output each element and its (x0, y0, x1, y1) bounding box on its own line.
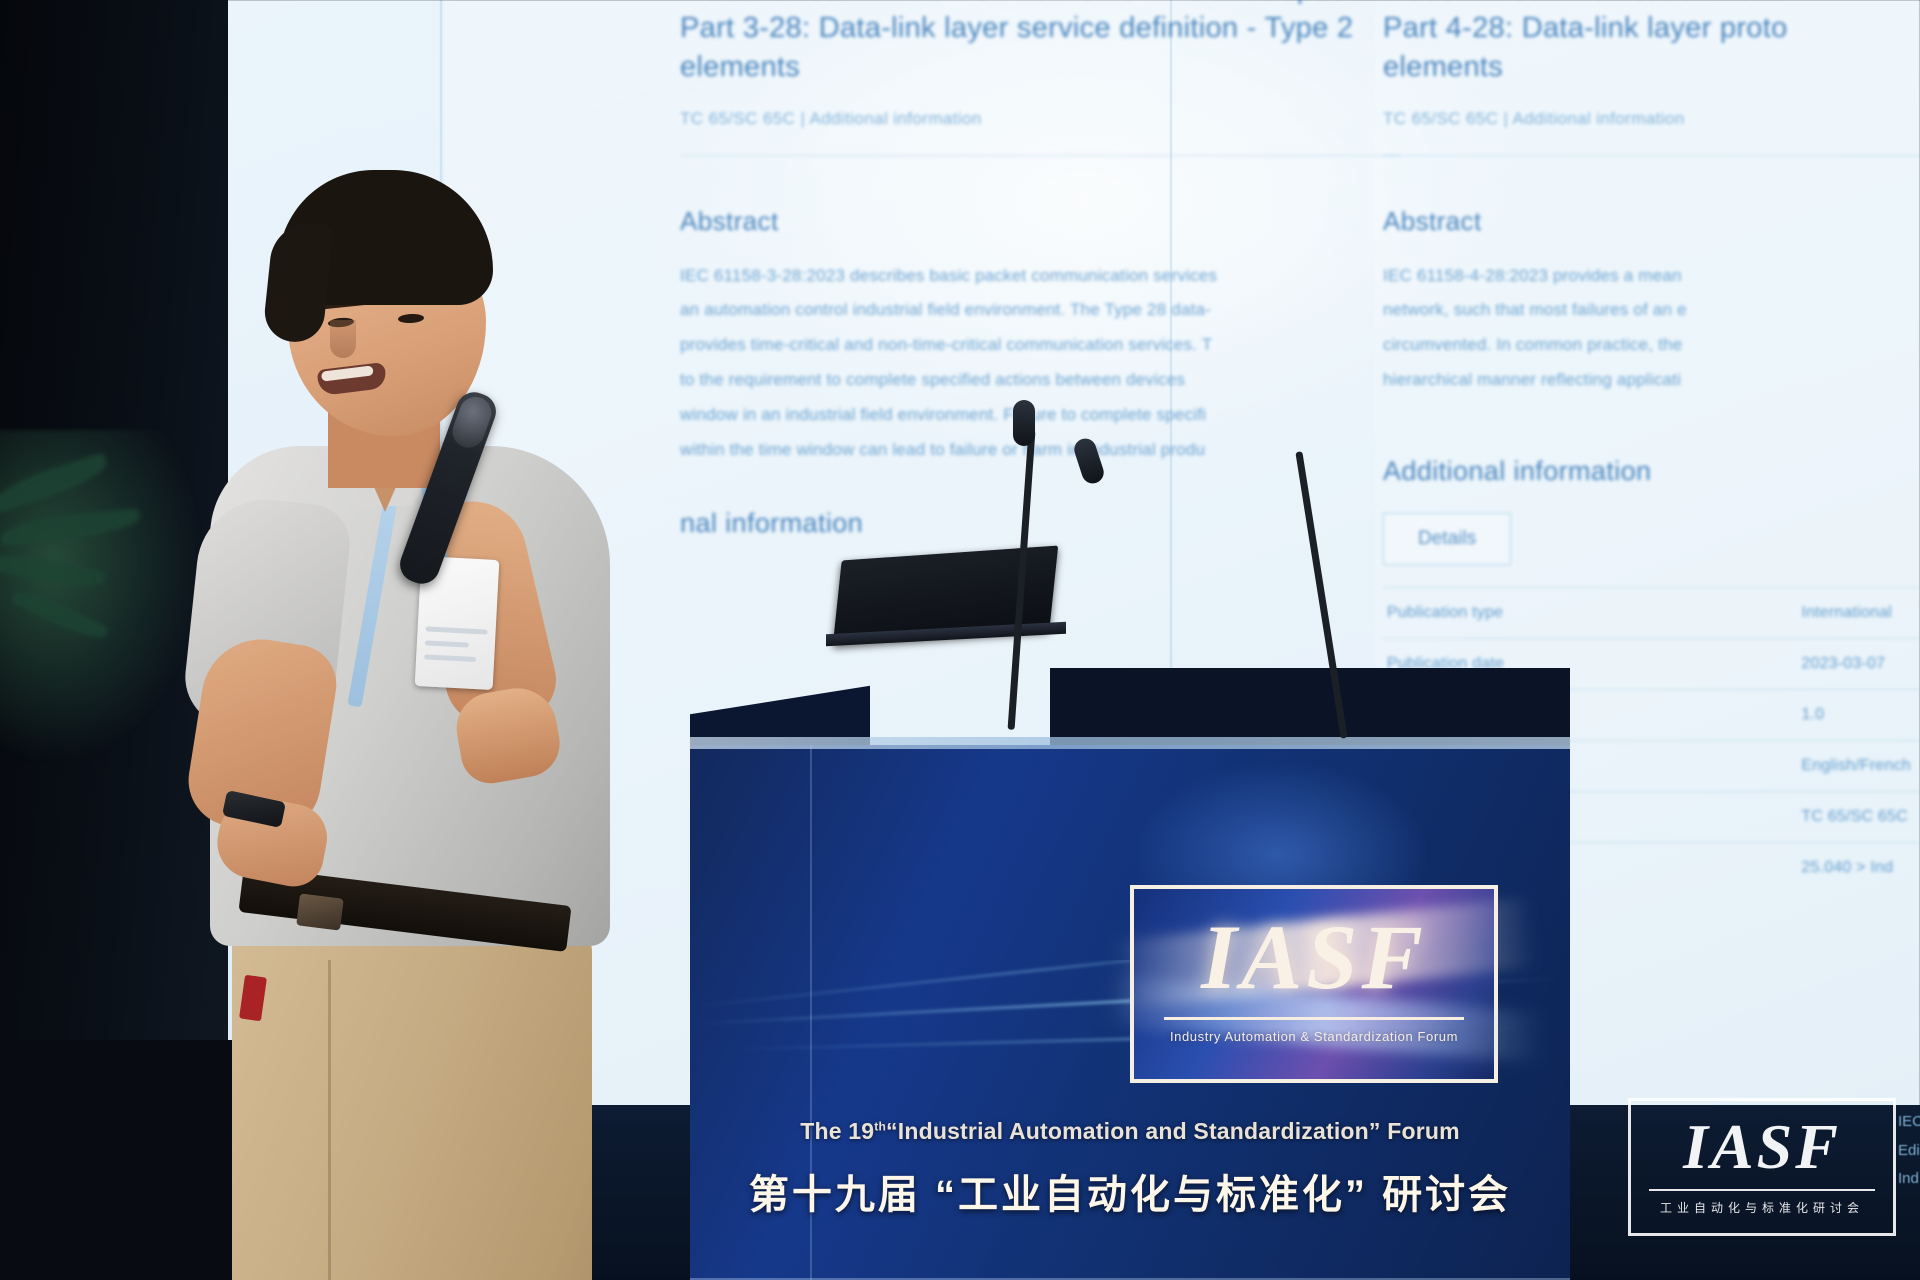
slide-left-title-line3: elements (680, 48, 1400, 87)
slide-left-abstract-l4: to the requirement to complete specified… (680, 363, 1400, 398)
slide-left-abstract-l1: IEC 61158-3-28:2023 describes basic pack… (680, 259, 1400, 294)
watermark-rule (1649, 1189, 1875, 1191)
slide-left-abstract-l3: provides time-critical and non-time-crit… (680, 328, 1400, 363)
slide-left-divider (680, 155, 1400, 156)
slide-left-meta: TC 65/SC 65C | Additional information (680, 109, 1400, 129)
slide-right-title-line2: Part 4-28: Data-link layer proto (1383, 9, 1920, 48)
slide-right-divider (1383, 155, 1920, 156)
slide-right-abstract-l4: hierarchical manner reflecting applicati (1383, 363, 1920, 398)
slide-left-additional-heading: nal information (680, 508, 1400, 539)
slide-left-abstract-l6: within the time window can lead to failu… (680, 433, 1400, 468)
belt-buckle (296, 893, 344, 930)
table-row: Publication type International (1383, 587, 1920, 638)
detail-value: International (1797, 587, 1920, 638)
iasf-logo-plate: IASF Industry Automation & Standardizati… (1130, 885, 1498, 1083)
slide-right-abstract-l2: network, such that most failures of an e (1383, 293, 1920, 328)
slide-left-abstract-l5: window in an industrial field environmen… (680, 398, 1400, 433)
slide-left-title-line1: Industrial communication networks - Fiel… (680, 0, 1400, 9)
detail-value: 25.040 > Ind (1797, 842, 1920, 893)
iasf-watermark: IASF 工业自动化与标准化研讨会 (1628, 1098, 1896, 1236)
forum-tagline-chinese: 第十九届 “工业自动化与标准化” 研讨会 (690, 1162, 1570, 1220)
side-line-2: Edi (1898, 1137, 1920, 1166)
slide-left-abstract-heading: Abstract (680, 206, 1400, 237)
tab-details[interactable]: Details (1383, 513, 1511, 565)
speaker-nose (330, 320, 356, 358)
slide-right-abstract-l3: circumvented. In common practice, the (1383, 328, 1920, 363)
iasf-logo-text: IASF (1134, 911, 1494, 1003)
podium-top-edge (690, 737, 1570, 749)
slide-left-title-line2: Part 3-28: Data-link layer service defin… (680, 9, 1400, 48)
tagline-rest: “Industrial Automation and Standardizati… (886, 1118, 1460, 1144)
side-line-3: Ind (1898, 1165, 1920, 1194)
slide-left-content: Industrial communication networks - Fiel… (680, 0, 1400, 539)
potted-plant (0, 430, 200, 760)
slide-right-abstract-l1: IEC 61158-4-28:2023 provides a mean (1383, 259, 1920, 294)
conference-photo-scene: Industrial communication networks - Fiel… (0, 0, 1920, 1280)
speaker-figure (180, 170, 600, 1280)
tagline-prefix: The 19 (800, 1118, 874, 1144)
detail-key: Publication type (1383, 587, 1797, 638)
watermark-side-text: IEC Edi Ind (1898, 1108, 1920, 1194)
slide-right-meta: TC 65/SC 65C | Additional information (1383, 109, 1920, 129)
slide-right-title-line3: elements (1383, 48, 1920, 87)
detail-value: 2023-03-07 (1797, 638, 1920, 689)
detail-value: TC 65/SC 65C (1797, 791, 1920, 842)
watermark-logo-text: IASF (1631, 1115, 1893, 1179)
speaker-trousers (232, 918, 592, 1280)
tagline-ordinal: th (874, 1119, 886, 1133)
iasf-logo-subtitle: Industry Automation & Standardization Fo… (1134, 1029, 1494, 1044)
watermark-subtitle: 工业自动化与标准化研讨会 (1631, 1199, 1893, 1216)
detail-value: English/French (1797, 740, 1920, 791)
slide-left-abstract-l2: an automation control industrial field e… (680, 293, 1400, 328)
trouser-pleat (328, 960, 331, 1280)
iasf-logo-rule (1164, 1017, 1464, 1020)
forum-tagline-english: The 19th“Industrial Automation and Stand… (690, 1118, 1570, 1145)
slide-right-additional-heading: Additional information (1383, 456, 1920, 487)
slide-right-abstract-heading: Abstract (1383, 206, 1920, 237)
detail-value: 1.0 (1797, 689, 1920, 740)
side-line-1: IEC (1898, 1108, 1920, 1137)
slide-right-title-line1: Industrial communication netw (1383, 0, 1920, 9)
podium-mic-head-left (1013, 400, 1035, 446)
